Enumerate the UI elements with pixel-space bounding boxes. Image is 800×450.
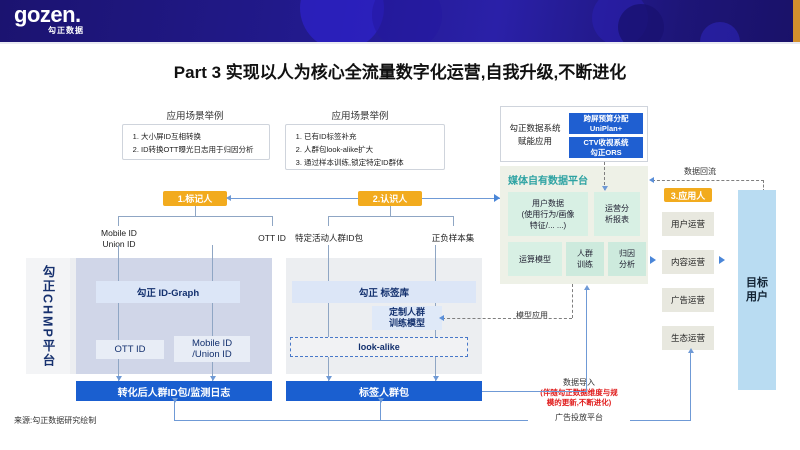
tree-line [328, 216, 453, 217]
scene-item: 通过样本训练,锁定特定ID群体 [304, 157, 439, 169]
flow-line [435, 258, 436, 281]
target-users-column[interactable]: 目标 用户 [738, 190, 776, 390]
box-ott-id-output[interactable]: OTT ID [96, 340, 164, 359]
connector-ad-platform-left [286, 420, 528, 421]
box-mobile-union-id-output[interactable]: Mobile ID /Union ID [174, 336, 250, 362]
app-uniplan[interactable]: 跨屏预算分配 UniPlan+ [569, 113, 643, 134]
label-data-backflow: 数据回流 [684, 166, 716, 177]
box-tag-library[interactable]: 勾正 标签库 [292, 281, 476, 303]
media-platform-title: 媒体自有数据平台 [508, 172, 588, 187]
gozen-system-box: 勾正数据系统 赋能应用 跨屏预算分配 UniPlan+ CTV收视系统 勾正OR… [500, 106, 648, 162]
arrow-right-icon [650, 256, 656, 264]
brand-logo-subtext: 勾正数据 [48, 26, 84, 36]
arrow-right-icon [719, 256, 725, 264]
connector-bar-to-import [482, 391, 587, 392]
tree-line [118, 216, 119, 226]
app-gozen-ors[interactable]: CTV收视系统 勾正ORS [569, 137, 643, 158]
tree-line [453, 216, 454, 226]
scene-item: 已有ID标签补充 [304, 131, 439, 143]
flow-line [435, 245, 436, 258]
decorative-circle-icon [618, 4, 664, 42]
dashed-connector-model-h [442, 318, 572, 319]
arrow-left-icon [439, 315, 444, 321]
connector-bottom-left [174, 420, 286, 421]
tree-line [195, 206, 196, 216]
connector-tagbar-down [380, 401, 381, 420]
arrow-up-icon [688, 348, 694, 353]
arrow-down-icon [602, 186, 608, 191]
op-user-operation[interactable]: 用户运营 [662, 212, 714, 236]
flow-line [435, 330, 436, 337]
box-operation-report[interactable]: 运营分 析报表 [594, 192, 640, 236]
scene-box-2: 已有ID标签补充 人群包look-alike扩大 通过样本训练,锁定特定ID群体 [285, 124, 445, 170]
dashed-connector-model-v [572, 284, 573, 318]
arrow-down-icon [172, 398, 178, 403]
flow-line [212, 303, 213, 336]
tree-line [272, 216, 273, 226]
flow-line [118, 303, 119, 340]
op-ad-operation[interactable]: 广告运营 [662, 288, 714, 312]
flow-line [118, 245, 119, 258]
box-lookalike[interactable]: look-alike [290, 337, 468, 357]
chmp-platform-label: 勾正CHMP平台 [26, 258, 70, 374]
decorative-circle-icon [372, 0, 442, 42]
flow-line [212, 245, 213, 258]
tree-line [328, 216, 329, 226]
badge-step1[interactable]: 1.标记人 [163, 191, 227, 206]
box-id-graph[interactable]: 勾正 ID-Graph [96, 281, 240, 303]
box-user-data[interactable]: 用户数据 (使用行为/画像 特征/... ...) [508, 192, 588, 236]
op-ecosystem-operation[interactable]: 生态运营 [662, 326, 714, 350]
arrow-left-icon [649, 177, 654, 183]
page-header: gozen. 勾正数据 [0, 0, 800, 42]
scene-heading-2: 应用场景举例 [295, 108, 425, 122]
flow-line [328, 258, 329, 281]
decorative-circle-icon [700, 22, 740, 42]
node-activity-crowd-id: 特定活动人群ID包 [283, 233, 375, 244]
connector-import-up [586, 290, 587, 391]
connector-step2-to-step1 [231, 198, 358, 199]
connector-convbar-down [174, 401, 175, 420]
brand-logo-text: gozen. [14, 4, 84, 26]
node-mobile-union-id: Mobile ID Union ID [88, 228, 150, 250]
flow-line [435, 303, 436, 306]
scene-box-1: 大小屏ID互相转换 ID转换OTT曝光日志用于归因分析 [122, 124, 270, 160]
arrow-left-icon [226, 195, 231, 201]
gozen-system-label: 勾正数据系统 赋能应用 [505, 117, 565, 153]
bar-tag-crowd-package[interactable]: 标签人群包 [286, 381, 482, 401]
badge-step2[interactable]: 2.认识人 [358, 191, 422, 206]
scene-item: 大小屏ID互相转换 [141, 131, 264, 143]
header-divider [0, 42, 800, 44]
box-compute-model[interactable]: 运算模型 [508, 242, 562, 276]
label-model-apply: 模型应用 [516, 310, 548, 321]
op-content-operation[interactable]: 内容运营 [662, 250, 714, 274]
badge-step3[interactable]: 3.应用人 [664, 188, 712, 202]
source-footer: 来源:勾正数据研究绘制 [14, 415, 96, 426]
box-custom-crowd-model[interactable]: 定制人群 训练模型 [372, 306, 442, 330]
flow-line [328, 245, 329, 258]
tree-line [118, 216, 272, 217]
header-accent-bar [793, 0, 800, 42]
flow-line [212, 258, 213, 281]
dashed-connector-backflow [652, 180, 764, 181]
connector-ad-platform-right [630, 420, 691, 421]
box-attribution-analysis[interactable]: 归因 分析 [608, 242, 646, 276]
connector-ad-platform-up [690, 352, 691, 420]
arrow-down-icon [378, 398, 384, 403]
label-ad-platform: 广告投放平台 [531, 412, 627, 423]
scene-item: 人群包look-alike扩大 [304, 144, 439, 156]
label-data-import: 数据导入 [531, 377, 627, 388]
arrow-right-icon [494, 194, 500, 202]
connector-step2-to-media [422, 198, 505, 199]
node-pos-neg-sample: 正负样本集 [412, 233, 494, 244]
tree-line [390, 206, 391, 216]
arrow-up-icon [584, 285, 590, 290]
decorative-circle-icon [300, 0, 384, 42]
page-title: Part 3 实现以人为核心全流量数字化运营,自我升级,不断进化 [0, 58, 800, 83]
brand-logo: gozen. 勾正数据 [14, 4, 84, 36]
flow-line [118, 258, 119, 281]
flow-line [328, 303, 329, 337]
scene-item: ID转换OTT曝光日志用于归因分析 [141, 144, 264, 156]
box-crowd-training[interactable]: 人群 训练 [566, 242, 604, 276]
scene-heading-1: 应用场景举例 [130, 108, 260, 122]
